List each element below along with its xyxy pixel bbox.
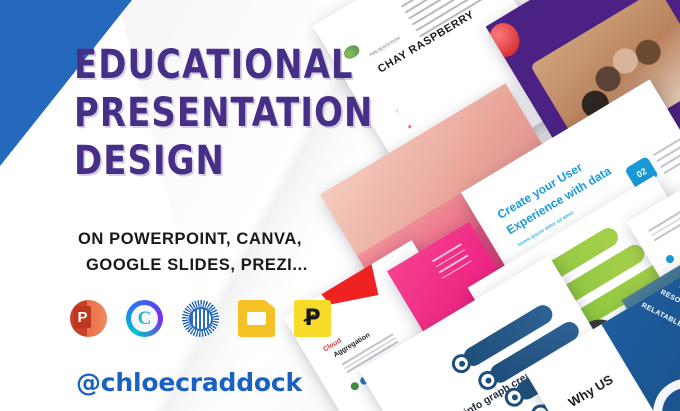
logo-dot-green: [349, 381, 360, 392]
slide-why-us-title: Why US: [566, 372, 616, 410]
app-icon-row: C P: [70, 300, 331, 337]
berry-icon: ✦: [405, 121, 415, 132]
slides-glyph: [247, 312, 266, 325]
page-title: EDUCATIONAL PRESENTATION DESIGN: [74, 46, 404, 182]
slide-pink-lines: [432, 243, 475, 283]
dot-icon: [664, 254, 675, 265]
headline-line-1: EDUCATIONAL: [74, 46, 384, 85]
headline-line-2: PRESENTATION: [74, 94, 384, 133]
subtitle-line-1: ON POWERPOINT, CANVA,: [78, 227, 378, 253]
emblem-inner: [189, 307, 213, 331]
emblem-icon[interactable]: [182, 300, 219, 337]
circle-decoration: [641, 366, 680, 411]
gig-thumbnail: PRESENTATION CHAY RASPBERRY Y ✦ ❉ ❀ Pre-…: [0, 0, 680, 411]
headline-line-3: DESIGN: [74, 142, 384, 181]
prezi-glyph: P: [304, 306, 320, 331]
google-slides-icon[interactable]: [238, 300, 275, 337]
subtitle: ON POWERPOINT, CANVA, GOOGLE SLIDES, PRE…: [78, 227, 378, 278]
canva-glyph: C: [131, 305, 158, 332]
slide-chay-body-lines: [401, 0, 501, 42]
prezi-icon[interactable]: P: [294, 300, 331, 337]
why-us-word: RELATABLE: [640, 302, 680, 329]
slide-mini-lines: [648, 208, 680, 245]
powerpoint-icon[interactable]: [70, 300, 107, 337]
seller-handle[interactable]: @chloecraddock: [76, 368, 302, 397]
subtitle-line-2: GOOGLE SLIDES, PREZI...: [78, 253, 378, 279]
canva-icon[interactable]: C: [126, 300, 163, 337]
